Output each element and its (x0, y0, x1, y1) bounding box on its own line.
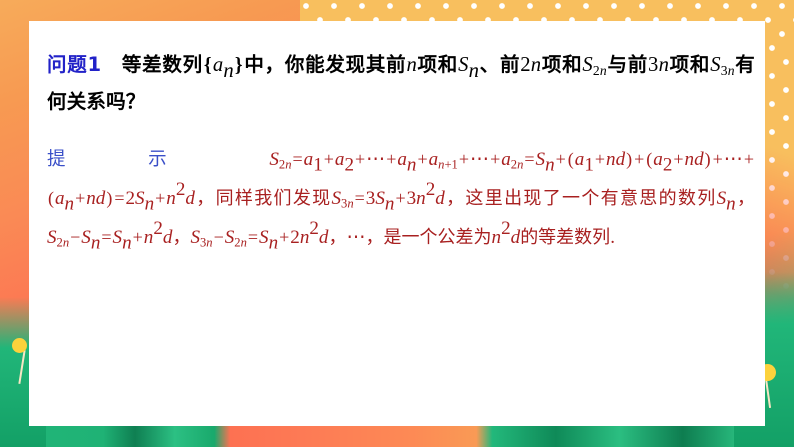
hint-paragraph: 提示S2n=a1+a2+⋯+an+an+1+⋯+a2n=Sn+(a1+nd)+(… (39, 140, 755, 257)
question-label: 问题1 (47, 53, 101, 76)
content-body: 问题1等差数列{an}中，你能发现其前n项和Sn、前2n项和S2n与前3n项和S… (39, 47, 755, 257)
question-paragraph: 问题1等差数列{an}中，你能发现其前n项和Sn、前2n项和S2n与前3n项和S… (39, 47, 755, 120)
slide: 问题1等差数列{an}中，你能发现其前n项和Sn、前2n项和S2n与前3n项和S… (0, 0, 794, 447)
content-card: 问题1等差数列{an}中，你能发现其前n项和Sn、前2n项和S2n与前3n项和S… (29, 21, 765, 426)
yellow-dot-left-icon (12, 338, 27, 353)
hint-label: 提示 (47, 149, 249, 170)
question-text: 等差数列{an}中，你能发现其前n项和Sn、前2n项和S2n与前3n项和S3n有… (47, 53, 755, 113)
